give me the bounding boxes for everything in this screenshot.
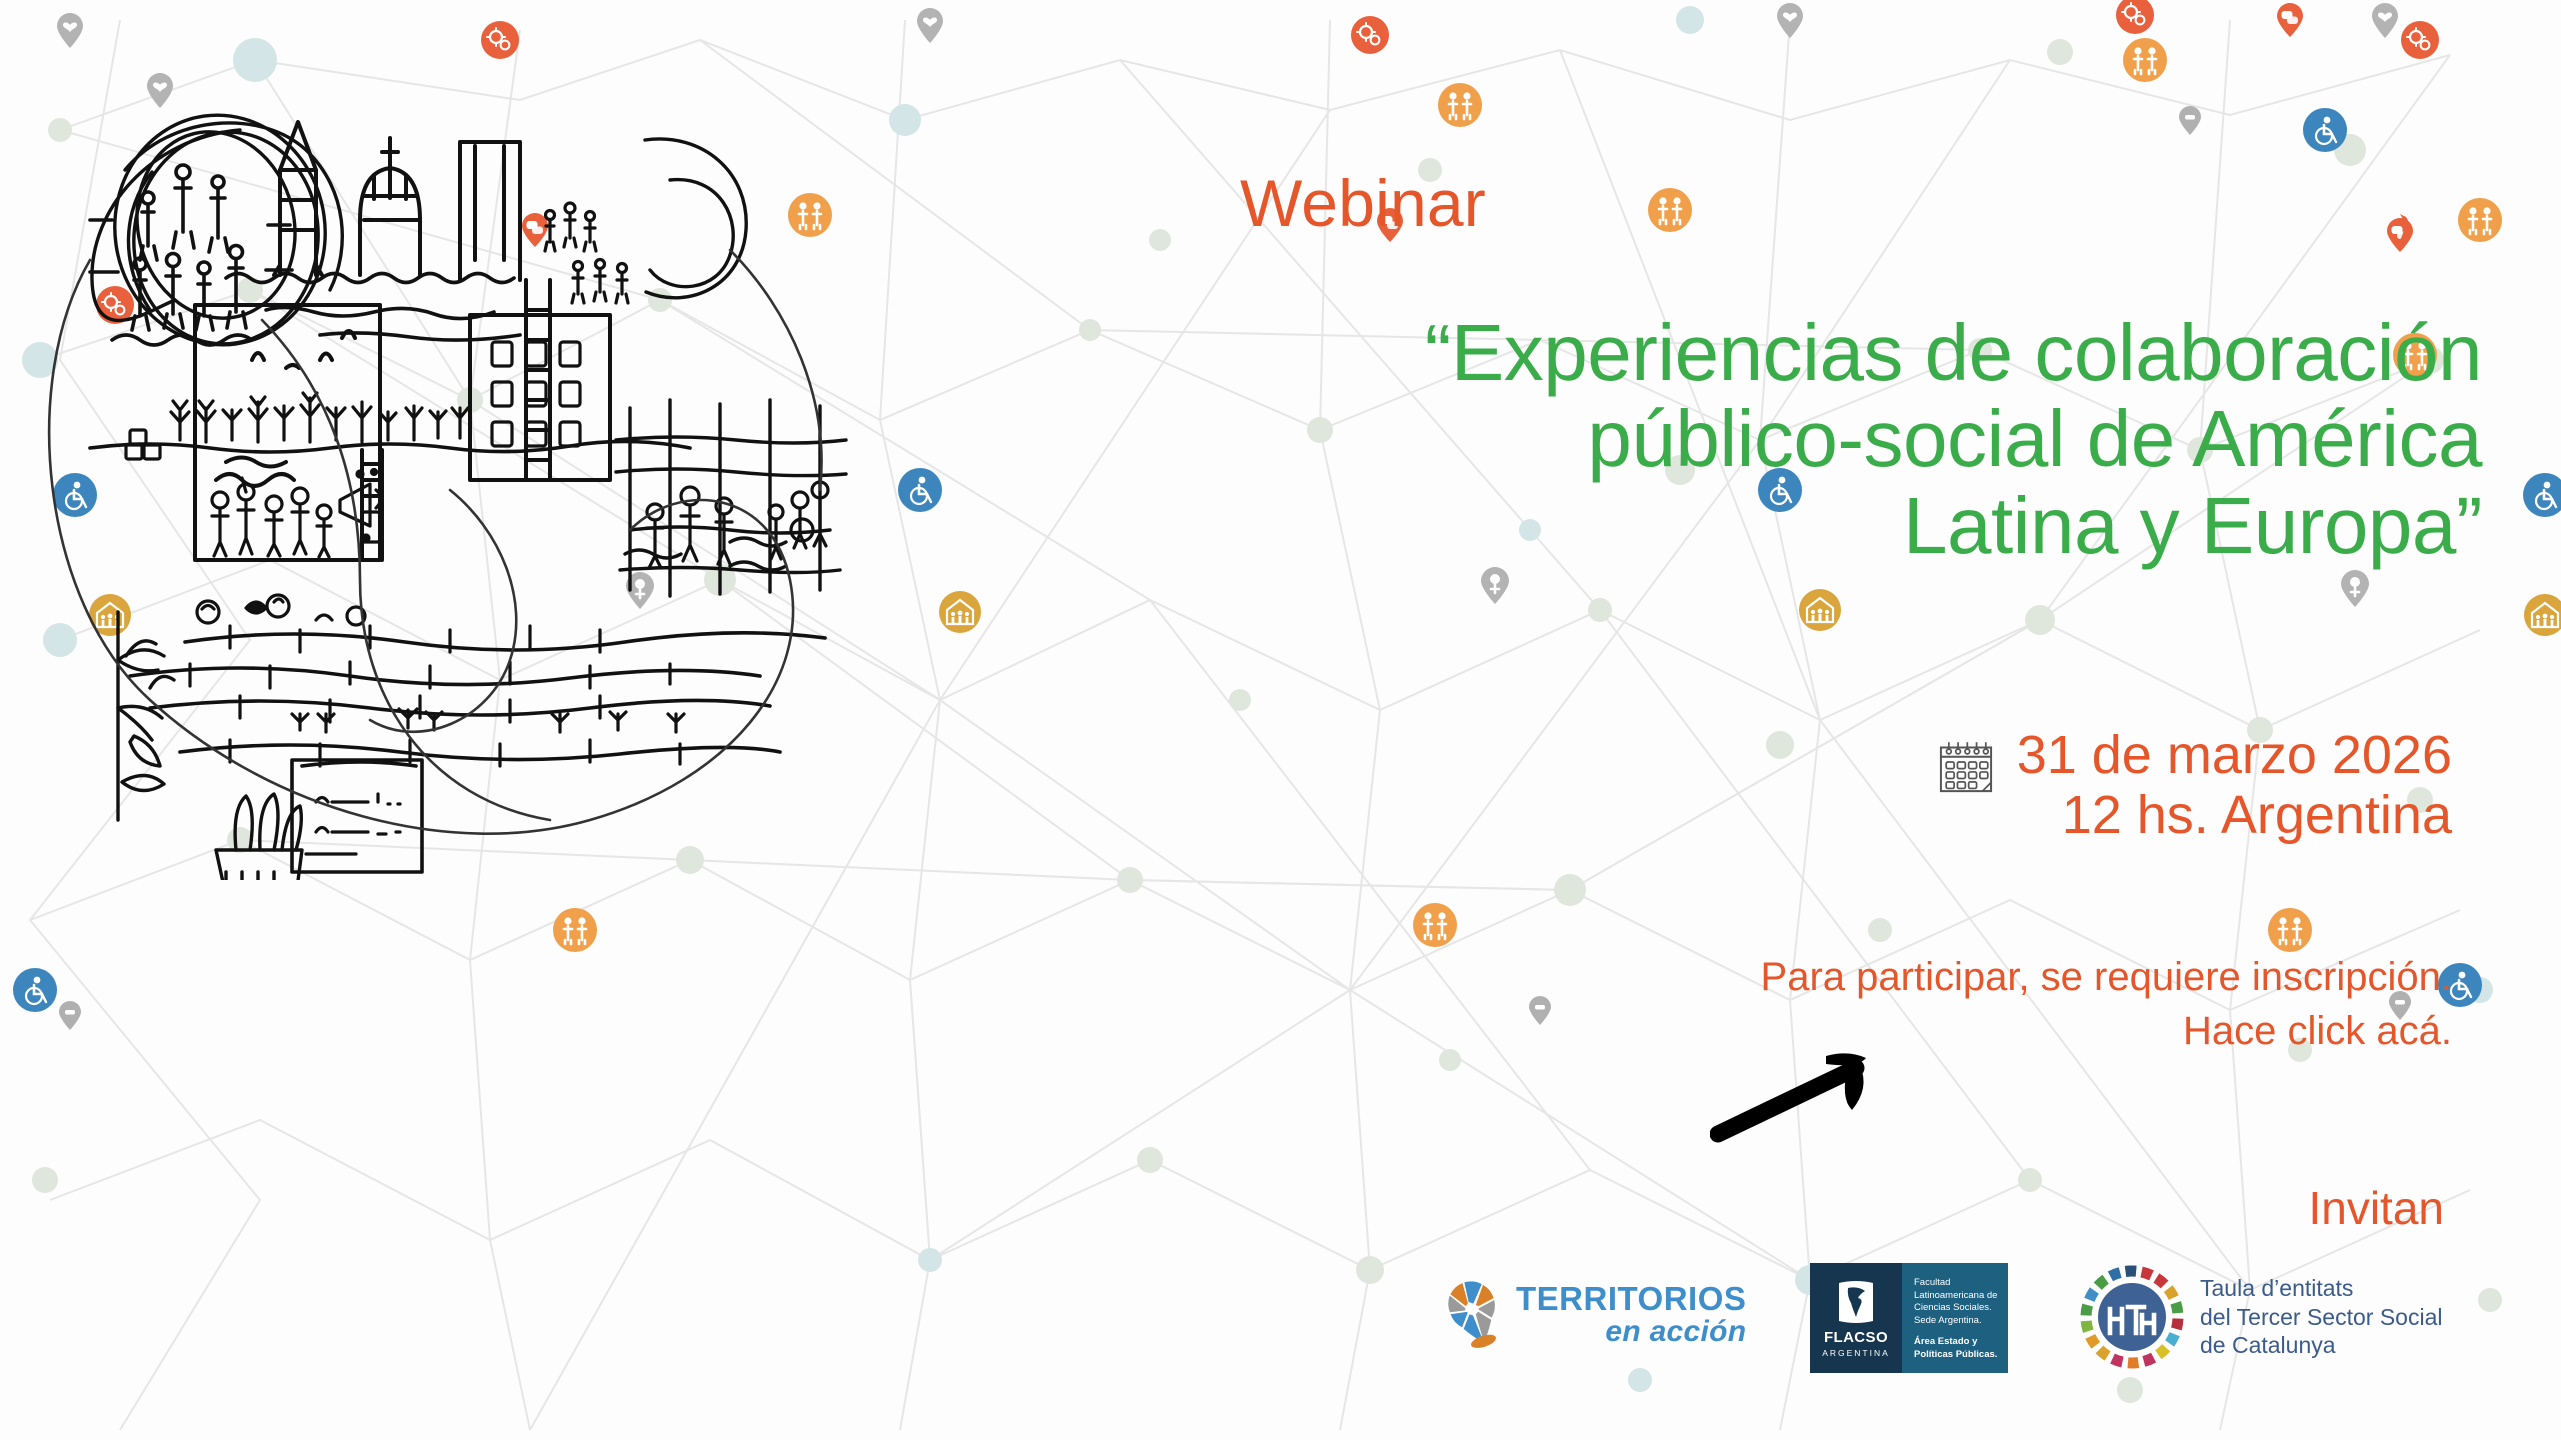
event-datetime: 31 de marzo 2026 12 hs. Argentina [1933, 725, 2452, 846]
territorios-pin-icon [1440, 1277, 1506, 1351]
flacso-faculty: Facultad Latinoamericana de Ciencias Soc… [1914, 1277, 2008, 1327]
taula-wordmark: Taula d’entitats del Tercer Sector Socia… [2200, 1274, 2442, 1361]
logo-taula-entitats[interactable]: Taula d’entitats del Tercer Sector Socia… [2080, 1265, 2442, 1369]
webinar-kicker: Webinar [1240, 170, 1486, 236]
hanging-plants [118, 612, 174, 820]
flacso-mark-block: FLACSO ARGENTINA [1810, 1263, 1902, 1373]
content-column: Webinar “Experiencias de colaboración pú… [1150, 0, 2540, 1440]
event-time: 12 hs. Argentina [2017, 785, 2452, 845]
flacso-map-icon [1834, 1279, 1878, 1325]
flacso-country: ARGENTINA [1822, 1348, 1890, 1358]
territorios-wordmark: TERRITORIOS en acción [1516, 1282, 1746, 1347]
sponsor-logos: TERRITORIOS en acción FLACSO ARGENTINA F… [1420, 1255, 2530, 1405]
territorios-line-2: en acción [1516, 1317, 1746, 1347]
taula-line-2: del Tercer Sector Social [2200, 1303, 2442, 1332]
invitan-label: Invitan [2308, 1185, 2444, 1231]
fenced-plaza [616, 400, 846, 596]
arrow-up-right-icon [1710, 1040, 1910, 1150]
title-line-1: “Experiencias de colaboración [1192, 310, 2482, 396]
poster-canvas: Webinar “Experiencias de colaboración pú… [0, 0, 2561, 1440]
taula-circle-icon [2080, 1265, 2184, 1369]
logo-flacso-argentina[interactable]: FLACSO ARGENTINA Facultad Latinoamerican… [1810, 1263, 2008, 1373]
territorios-line-1: TERRITORIOS [1516, 1282, 1746, 1315]
flacso-area: Área Estado y Políticas Públicas. [1914, 1336, 2008, 1361]
event-datetime-text: 31 de marzo 2026 12 hs. Argentina [2017, 725, 2452, 846]
tower-building [460, 142, 520, 280]
taula-line-3: de Catalunya [2200, 1331, 2442, 1360]
calendar-icon [1933, 733, 1999, 799]
flacso-name: FLACSO [1824, 1329, 1888, 1346]
hand-drawn-city-illustration [30, 60, 960, 880]
registration-line-1: Para participar, se requiere inscripción… [1352, 950, 2452, 1004]
flacso-text-block: Facultad Latinoamericana de Ciencias Soc… [1902, 1263, 2008, 1373]
domed-building [360, 138, 420, 275]
taula-line-1: Taula d’entitats [2200, 1274, 2442, 1303]
plant-pot [216, 794, 302, 880]
fields-and-fences [130, 595, 825, 766]
title-line-3: Latina y Europa” [1192, 483, 2482, 569]
logo-territorios-en-accion[interactable]: TERRITORIOS en acción [1440, 1277, 1746, 1351]
horizon-line [90, 441, 690, 452]
page-title: “Experiencias de colaboración público-so… [1192, 310, 2482, 569]
stick-figures-skyline [545, 203, 628, 303]
title-line-2: público-social de América [1192, 396, 2482, 482]
event-date: 31 de marzo 2026 [2017, 725, 2452, 785]
